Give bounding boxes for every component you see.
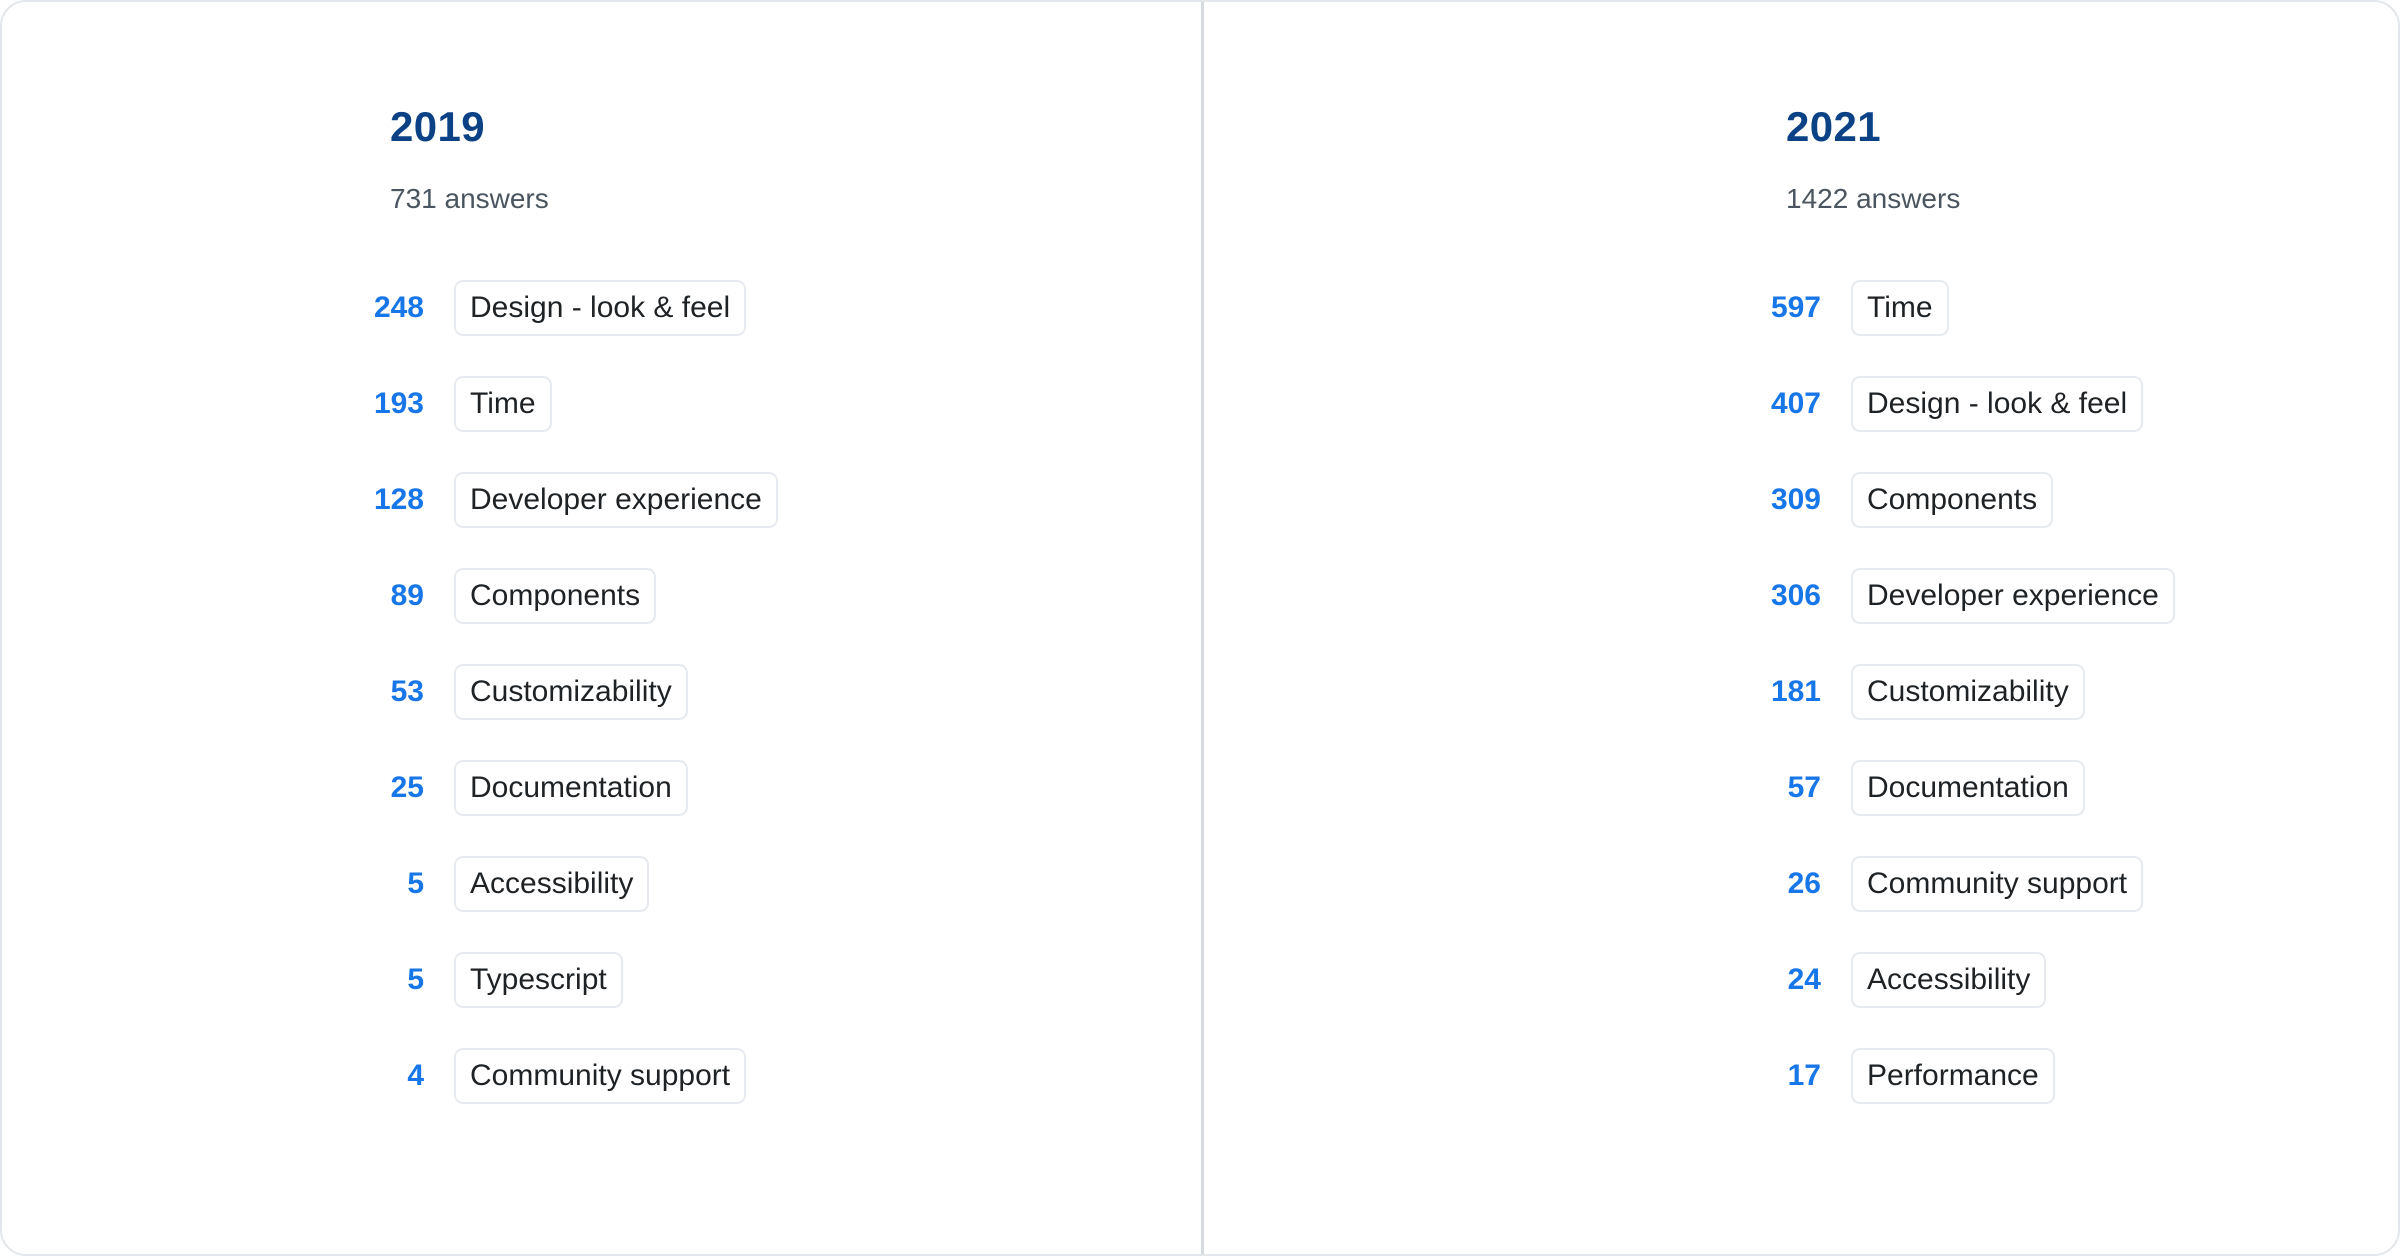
result-count: 597 [1306, 293, 1851, 323]
list-item[interactable]: 128 Developer experience [114, 452, 1202, 548]
result-label-chip[interactable]: Documentation [454, 760, 688, 816]
year-title-2021: 2021 [1786, 106, 2400, 148]
list-item[interactable]: 53 Customizability [114, 644, 1202, 740]
result-label-chip[interactable]: Accessibility [1851, 952, 2046, 1008]
comparison-card: 2019 731 answers 248 Design - look & fee… [0, 0, 2400, 1256]
result-count: 5 [114, 869, 454, 899]
list-item[interactable]: 193 Time [114, 356, 1202, 452]
result-count: 309 [1306, 485, 1851, 515]
list-item[interactable]: 5 Accessibility [114, 836, 1202, 932]
results-list-2021: 597 Time 407 Design - look & feel 309 Co… [1306, 260, 2400, 1124]
list-item[interactable]: 25 Documentation [114, 740, 1202, 836]
list-item[interactable]: 248 Design - look & feel [114, 260, 1202, 356]
panel-2019: 2019 731 answers 248 Design - look & fee… [2, 2, 1202, 1254]
list-item[interactable]: 309 Components [1306, 452, 2400, 548]
result-count: 57 [1306, 773, 1851, 803]
result-count: 25 [114, 773, 454, 803]
result-count: 306 [1306, 581, 1851, 611]
result-count: 4 [114, 1061, 454, 1091]
list-item[interactable]: 4 Community support [114, 1028, 1202, 1124]
result-count: 89 [114, 581, 454, 611]
result-label-chip[interactable]: Design - look & feel [1851, 376, 2143, 432]
result-label-chip[interactable]: Components [1851, 472, 2053, 528]
list-item[interactable]: 306 Developer experience [1306, 548, 2400, 644]
list-item[interactable]: 181 Customizability [1306, 644, 2400, 740]
result-count: 26 [1306, 869, 1851, 899]
result-label-chip[interactable]: Documentation [1851, 760, 2085, 816]
list-item[interactable]: 597 Time [1306, 260, 2400, 356]
result-label-chip[interactable]: Developer experience [454, 472, 778, 528]
result-label-chip[interactable]: Developer experience [1851, 568, 2175, 624]
result-label-chip[interactable]: Design - look & feel [454, 280, 746, 336]
result-count: 128 [114, 485, 454, 515]
result-label-chip[interactable]: Typescript [454, 952, 623, 1008]
list-item[interactable]: 5 Typescript [114, 932, 1202, 1028]
year-title-2019: 2019 [390, 106, 1202, 148]
answers-count-2021: 1422 answers [1786, 185, 2400, 213]
result-label-chip[interactable]: Time [454, 376, 552, 432]
result-count: 193 [114, 389, 454, 419]
result-label-chip[interactable]: Accessibility [454, 856, 649, 912]
result-count: 407 [1306, 389, 1851, 419]
result-label-chip[interactable]: Performance [1851, 1048, 2055, 1104]
result-count: 53 [114, 677, 454, 707]
result-count: 17 [1306, 1061, 1851, 1091]
result-label-chip[interactable]: Customizability [1851, 664, 2085, 720]
list-item[interactable]: 57 Documentation [1306, 740, 2400, 836]
result-label-chip[interactable]: Community support [1851, 856, 2143, 912]
list-item[interactable]: 24 Accessibility [1306, 932, 2400, 1028]
list-item[interactable]: 17 Performance [1306, 1028, 2400, 1124]
results-list-2019: 248 Design - look & feel 193 Time 128 De… [114, 260, 1202, 1124]
result-count: 248 [114, 293, 454, 323]
panel-2021: 2021 1422 answers 597 Time 407 Design - … [1202, 2, 2400, 1254]
list-item[interactable]: 89 Components [114, 548, 1202, 644]
list-item[interactable]: 26 Community support [1306, 836, 2400, 932]
result-label-chip[interactable]: Time [1851, 280, 1949, 336]
result-count: 181 [1306, 677, 1851, 707]
result-count: 5 [114, 965, 454, 995]
result-label-chip[interactable]: Community support [454, 1048, 746, 1104]
list-item[interactable]: 407 Design - look & feel [1306, 356, 2400, 452]
result-count: 24 [1306, 965, 1851, 995]
result-label-chip[interactable]: Components [454, 568, 656, 624]
answers-count-2019: 731 answers [390, 185, 1202, 213]
result-label-chip[interactable]: Customizability [454, 664, 688, 720]
